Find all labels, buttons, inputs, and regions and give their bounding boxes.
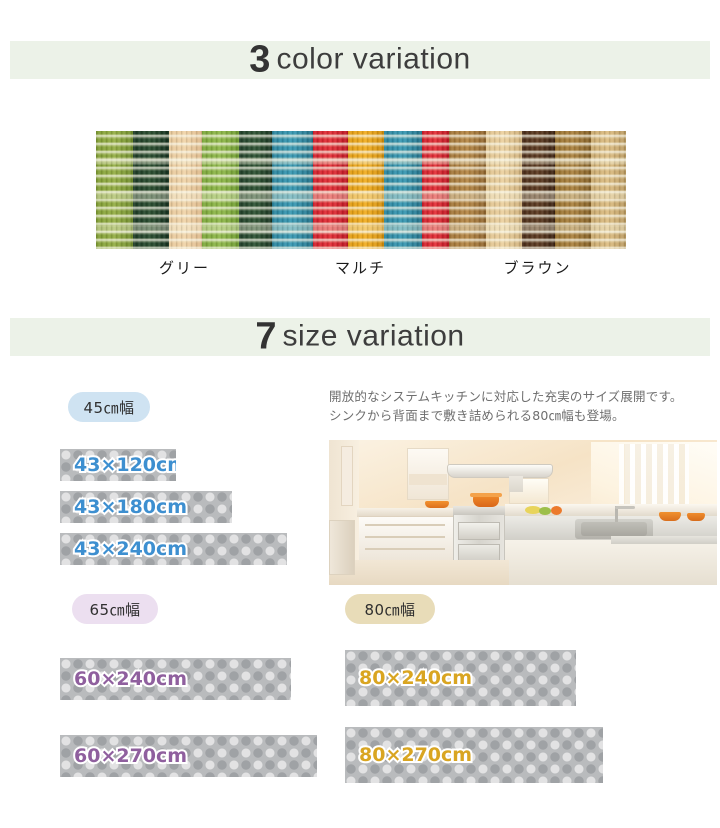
size-bar-80x270[interactable]: 80×270cm [345,727,603,783]
size-bar-80x270-label: 80×270cm [359,744,472,766]
width-badge-65-text: 65㎝幅 [89,599,140,620]
size-description: 開放的なシステムキッチンに対応した充実のサイズ展開です。 シンクから背面まで敷き… [329,387,719,425]
width-badge-45: 45㎝幅 [68,392,150,422]
size-bar-80x240-label: 80×240cm [359,667,472,689]
size-bar-60x270-label: 60×270cm [74,745,187,767]
width-badge-80: 80㎝幅 [345,594,435,624]
size-variation-content: 開放的なシステムキッチンに対応した充実のサイズ展開です。 シンクから背面まで敷き… [0,0,720,828]
kitchen-photo [329,440,717,585]
width-badge-45-text: 45㎝幅 [83,397,134,418]
size-bar-43x240-label: 43×240cm [74,538,187,560]
size-bar-43x240[interactable]: 43×240cm [60,533,287,565]
size-bar-80x240[interactable]: 80×240cm [345,650,576,706]
width-badge-65: 65㎝幅 [72,594,158,624]
size-bar-60x270[interactable]: 60×270cm [60,735,317,777]
size-bar-60x240-label: 60×240cm [74,668,187,690]
size-bar-43x120-label: 43×120cm [74,454,176,476]
width-badge-80-text: 80㎝幅 [364,599,415,620]
size-bar-60x240[interactable]: 60×240cm [60,658,291,700]
size-bar-43x180-label: 43×180cm [74,496,187,518]
size-bar-43x120[interactable]: 43×120cm [60,449,176,481]
size-description-line-2: シンクから背面まで敷き詰められる80㎝幅も登場。 [329,406,719,425]
size-description-line-1: 開放的なシステムキッチンに対応した充実のサイズ展開です。 [329,387,719,406]
size-bar-43x180[interactable]: 43×180cm [60,491,232,523]
